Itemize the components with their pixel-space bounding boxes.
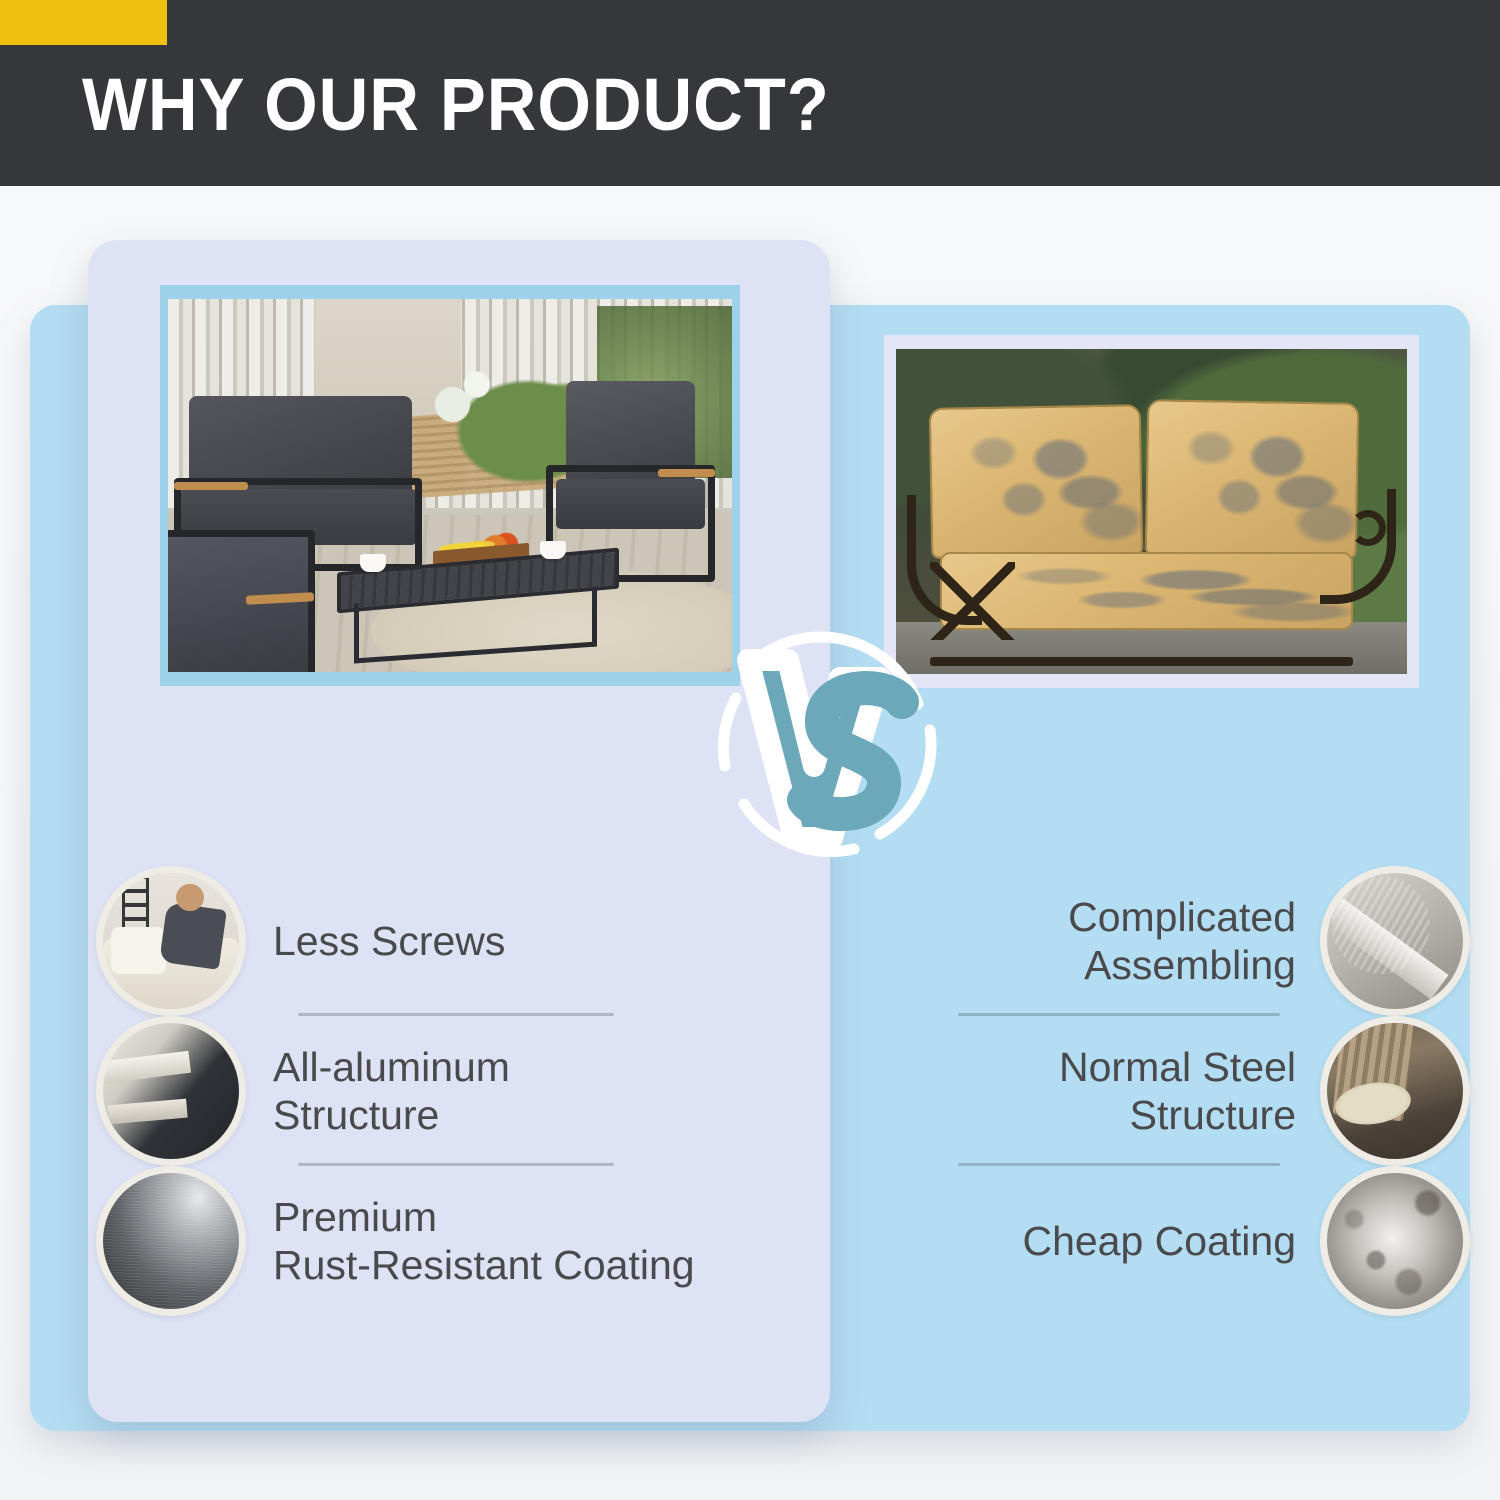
patio-coffee-table: [337, 560, 619, 657]
feature-label: Less Screws: [273, 917, 505, 965]
rusted-steel-tube-icon: [1320, 1016, 1470, 1166]
comparison-canvas: Less Screws All-aluminum Structure Premi…: [0, 186, 1500, 1500]
competitor-photo-frame: [884, 335, 1419, 688]
worker-assembling-sofa-icon: [96, 866, 246, 1016]
aluminum-frame-closeup-icon: [96, 1016, 246, 1166]
header-accent-block: [0, 0, 167, 45]
feature-label: All-aluminum Structure: [273, 1043, 510, 1140]
metal-bracket-assembly-icon: [1320, 866, 1470, 1016]
feature-label: Premium Rust-Resistant Coating: [273, 1193, 695, 1290]
header-bar: WHY OUR PRODUCT?: [0, 0, 1500, 186]
feature-label: Complicated Assembling: [1068, 893, 1296, 990]
feature-row: Complicated Assembling: [940, 866, 1470, 1016]
our-product-photo-frame: [160, 285, 740, 686]
feature-row: Cheap Coating: [940, 1166, 1470, 1316]
patio-chair-foreground: [168, 530, 315, 672]
our-product-feature-list: Less Screws All-aluminum Structure Premi…: [96, 866, 776, 1316]
feature-row: Normal Steel Structure: [940, 1016, 1470, 1166]
competitor-photo: [896, 349, 1407, 674]
pitted-cheap-coating-icon: [1320, 1166, 1470, 1316]
old-loveseat: [911, 401, 1381, 661]
feature-label: Normal Steel Structure: [1059, 1043, 1296, 1140]
feature-row: Premium Rust-Resistant Coating: [96, 1166, 776, 1316]
vs-badge: [704, 626, 944, 866]
infographic-page: WHY OUR PRODUCT?: [0, 0, 1500, 1500]
brushed-metal-coating-icon: [96, 1166, 246, 1316]
competitor-feature-list: Complicated Assembling Normal Steel Stru…: [940, 866, 1470, 1316]
our-product-photo: [168, 299, 732, 672]
page-title: WHY OUR PRODUCT?: [82, 62, 830, 147]
feature-row: All-aluminum Structure: [96, 1016, 776, 1166]
feature-row: Less Screws: [96, 866, 776, 1016]
feature-label: Cheap Coating: [1022, 1217, 1296, 1265]
